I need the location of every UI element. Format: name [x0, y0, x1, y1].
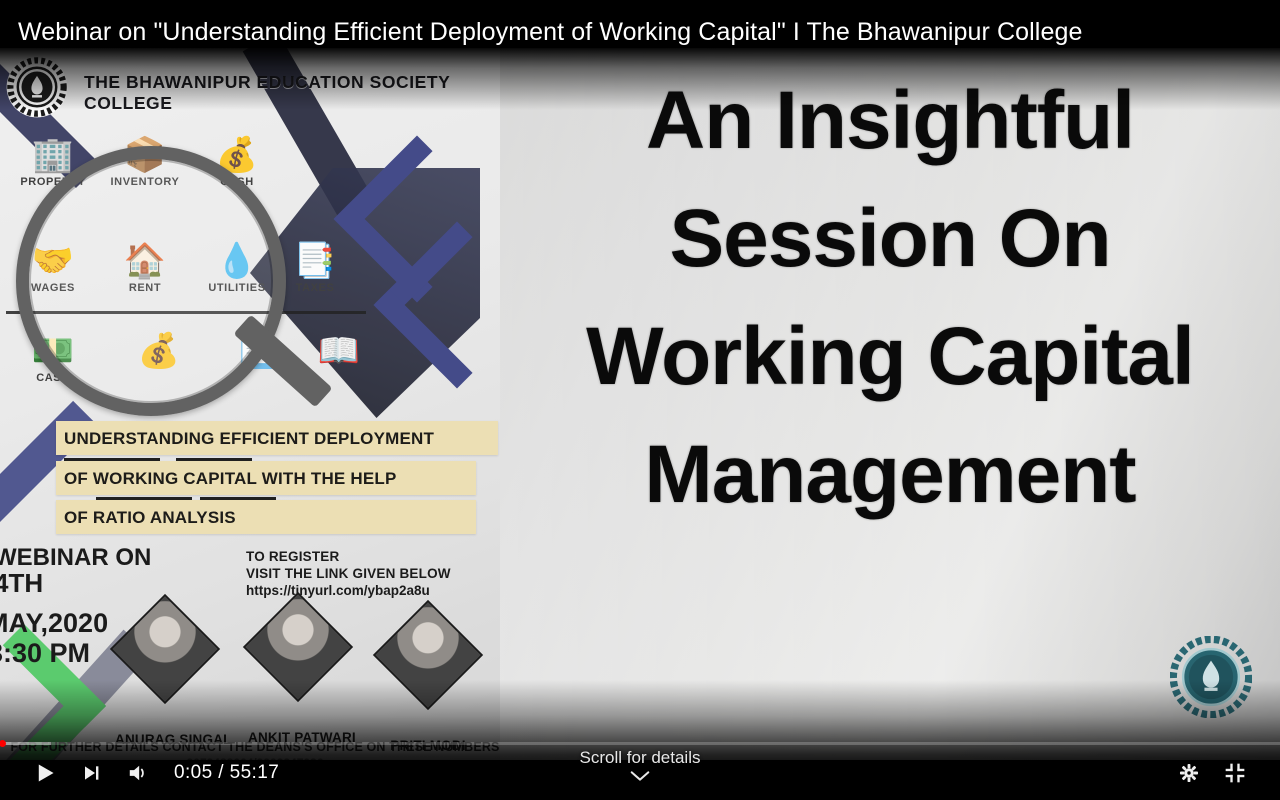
poster-register-url: https://tinyurl.com/ybap2a8u: [246, 582, 451, 599]
player-controls-left: 0:05 / 55:17: [0, 746, 279, 800]
poster-register-line-1: TO REGISTER: [246, 548, 451, 565]
exit-fullscreen-icon: [1221, 759, 1249, 787]
poster-title-rule-2a: [96, 497, 192, 500]
speaker-photo-1: [110, 594, 220, 704]
ledger-icon: 📖: [296, 332, 382, 370]
college-seal-icon: [6, 56, 68, 118]
slide-headline-line-1: An Insightful: [500, 62, 1280, 180]
progress-buffered: [0, 742, 51, 745]
video-stage[interactable]: An Insightful Session On Working Capital…: [0, 48, 1280, 760]
college-emblem-watermark-icon: [1170, 636, 1252, 718]
poster-webinar-day: 4TH: [0, 568, 43, 599]
poster-speaker-2: ANKIT PATWARI: [248, 608, 348, 686]
play-button[interactable]: [22, 750, 68, 796]
slide-headline-line-2: Session On: [500, 180, 1280, 298]
slide-headline: An Insightful Session On Working Capital…: [500, 62, 1280, 534]
player-controls[interactable]: 0:05 / 55:17: [0, 746, 1280, 800]
poster-title-line-1: UNDERSTANDING EFFICIENT DEPLOYMENT: [64, 429, 434, 449]
volume-button[interactable]: [114, 750, 160, 796]
progress-track[interactable]: [0, 742, 1280, 745]
time-display: 0:05 / 55:17: [174, 762, 279, 784]
poster-title-line-2: OF WORKING CAPITAL WITH THE HELP: [64, 469, 397, 489]
slide-board: An Insightful Session On Working Capital…: [500, 48, 1280, 760]
poster-speaker-3: PRITI MODI: [378, 616, 478, 694]
video-title[interactable]: Webinar on "Understanding Efficient Depl…: [18, 18, 1082, 47]
player-controls-right: [1166, 746, 1280, 800]
settings-button[interactable]: [1166, 750, 1212, 796]
poster-title-rule-1a: [64, 458, 160, 461]
poster-title-rule-1b: [176, 458, 252, 461]
gear-icon: [1176, 760, 1202, 786]
poster-title-rule-2b: [200, 497, 276, 500]
poster-register-block: TO REGISTER VISIT THE LINK GIVEN BELOW h…: [246, 548, 451, 599]
slide-headline-line-4: Management: [500, 416, 1280, 534]
poster-speaker-1: ANURAG SINGAL: [115, 610, 215, 688]
poster-webinar-time: 3:30 PM: [0, 638, 90, 669]
exit-fullscreen-button[interactable]: [1212, 750, 1258, 796]
poster-icon-label-taxes: TAXES: [296, 282, 335, 294]
magnifier-glass-icon: [16, 146, 286, 416]
poster-institution-name: THE BHAWANIPUR EDUCATION SOCIETY COLLEGE: [84, 72, 494, 114]
webinar-poster: THE BHAWANIPUR EDUCATION SOCIETY COLLEGE…: [0, 48, 500, 760]
next-video-button[interactable]: [68, 750, 114, 796]
poster-title-line-3: OF RATIO ANALYSIS: [64, 508, 236, 528]
youtube-video-player[interactable]: An Insightful Session On Working Capital…: [0, 0, 1280, 800]
poster-register-line-2: VISIT THE LINK GIVEN BELOW: [246, 565, 451, 582]
speaker-photo-2: [243, 592, 353, 702]
poster-webinar-month-year: MAY,2020: [0, 608, 108, 639]
slide-headline-line-3: Working Capital: [500, 298, 1280, 416]
speaker-photo-3: [373, 600, 483, 710]
